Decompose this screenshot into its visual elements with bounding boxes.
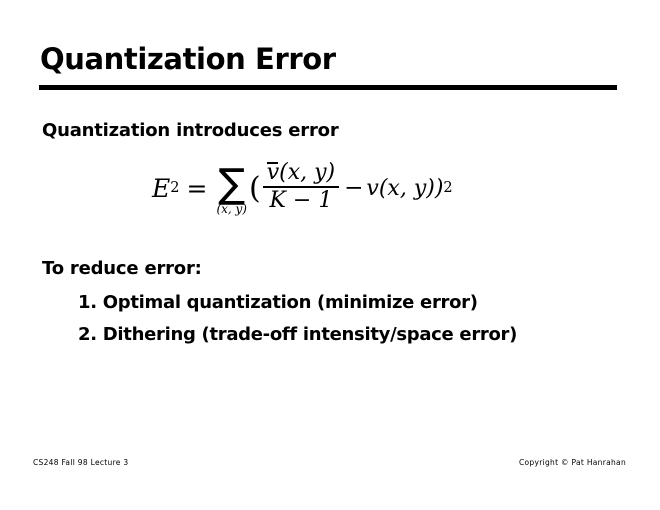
list-item-number: 2. bbox=[78, 324, 97, 345]
list-item: 2.Dithering (trade-off intensity/space e… bbox=[78, 324, 517, 345]
list-item-label: Optimal quantization (minimize error) bbox=[103, 292, 478, 313]
footer-course-label: CS248 Fall 98 Lecture 3 bbox=[33, 458, 128, 467]
formula-denominator: K − 1 bbox=[265, 189, 336, 213]
formula-summation: ∑ (x, y) bbox=[216, 166, 247, 215]
formula-sum-subscript: (x, y) bbox=[216, 203, 247, 215]
slide-canvas: Quantization Error Quantization introduc… bbox=[0, 0, 660, 510]
formula-minus: − bbox=[344, 175, 363, 201]
title-divider bbox=[39, 85, 617, 90]
formula-second-term: v(x, y)) bbox=[366, 176, 443, 201]
list-item-number: 1. bbox=[78, 292, 97, 313]
footer-copyright: Copyright © Pat Hanrahan bbox=[519, 458, 626, 467]
list-item: 1.Optimal quantization (minimize error) bbox=[78, 292, 478, 313]
formula-numerator-args: (x, y) bbox=[279, 160, 335, 185]
formula-equals: = bbox=[186, 174, 207, 203]
formula-fraction: v(x, y) K − 1 bbox=[263, 161, 339, 213]
list-item-label: Dithering (trade-off intensity/space err… bbox=[103, 324, 517, 345]
sigma-icon: ∑ bbox=[218, 166, 245, 202]
formula-lhs-symbol: E bbox=[152, 174, 170, 203]
formula-numerator-vbar: v bbox=[267, 161, 279, 185]
formula-open-paren: ( bbox=[249, 174, 261, 204]
formula-numerator: v(x, y) bbox=[263, 161, 339, 185]
reduce-error-header: To reduce error: bbox=[42, 258, 202, 279]
lead-statement: Quantization introduces error bbox=[42, 120, 339, 141]
page-title: Quantization Error bbox=[40, 42, 336, 76]
quantization-error-formula: E2 = ∑ (x, y) ( v(x, y) K − 1 − v(x, y))… bbox=[152, 162, 453, 214]
